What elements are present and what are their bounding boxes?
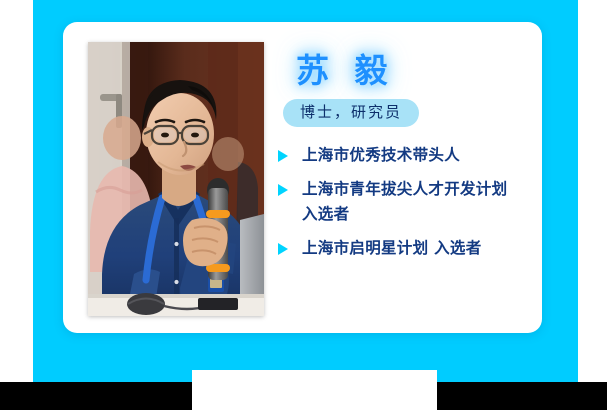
credential-text: 上海市优秀技术带头人 [302,146,460,164]
bottom-white-notch [192,370,437,410]
profile-card: 苏 毅 博士，研究员 上海市优秀技术带头人 上海市青年拔尖人才开发计划 入选者 … [63,22,542,333]
credential-text: 上海市启明星计划 入选者 [302,239,482,257]
portrait-photo [88,42,264,316]
credential-text-continuation: 入选者 [302,202,534,227]
credentials-list: 上海市优秀技术带头人 上海市青年拔尖人才开发计划 入选者 上海市启明星计划 入选… [276,127,534,261]
slide-canvas: 苏 毅 博士，研究员 上海市优秀技术带头人 上海市青年拔尖人才开发计划 入选者 … [0,0,607,410]
triangle-bullet-icon [278,243,288,255]
page-title: 苏 毅 [276,46,534,92]
list-item: 上海市优秀技术带头人 [276,143,534,168]
list-item: 上海市启明星计划 入选者 [276,236,534,261]
list-item: 上海市青年拔尖人才开发计划 入选者 [276,177,534,227]
profile-info-column: 苏 毅 博士，研究员 上海市优秀技术带头人 上海市青年拔尖人才开发计划 入选者 … [276,46,534,314]
triangle-bullet-icon [278,184,288,196]
title-badge-container: 博士，研究员 [276,92,534,127]
status-badge: 博士，研究员 [283,99,419,127]
credential-text: 上海市青年拔尖人才开发计划 [302,180,507,198]
triangle-bullet-icon [278,150,288,162]
